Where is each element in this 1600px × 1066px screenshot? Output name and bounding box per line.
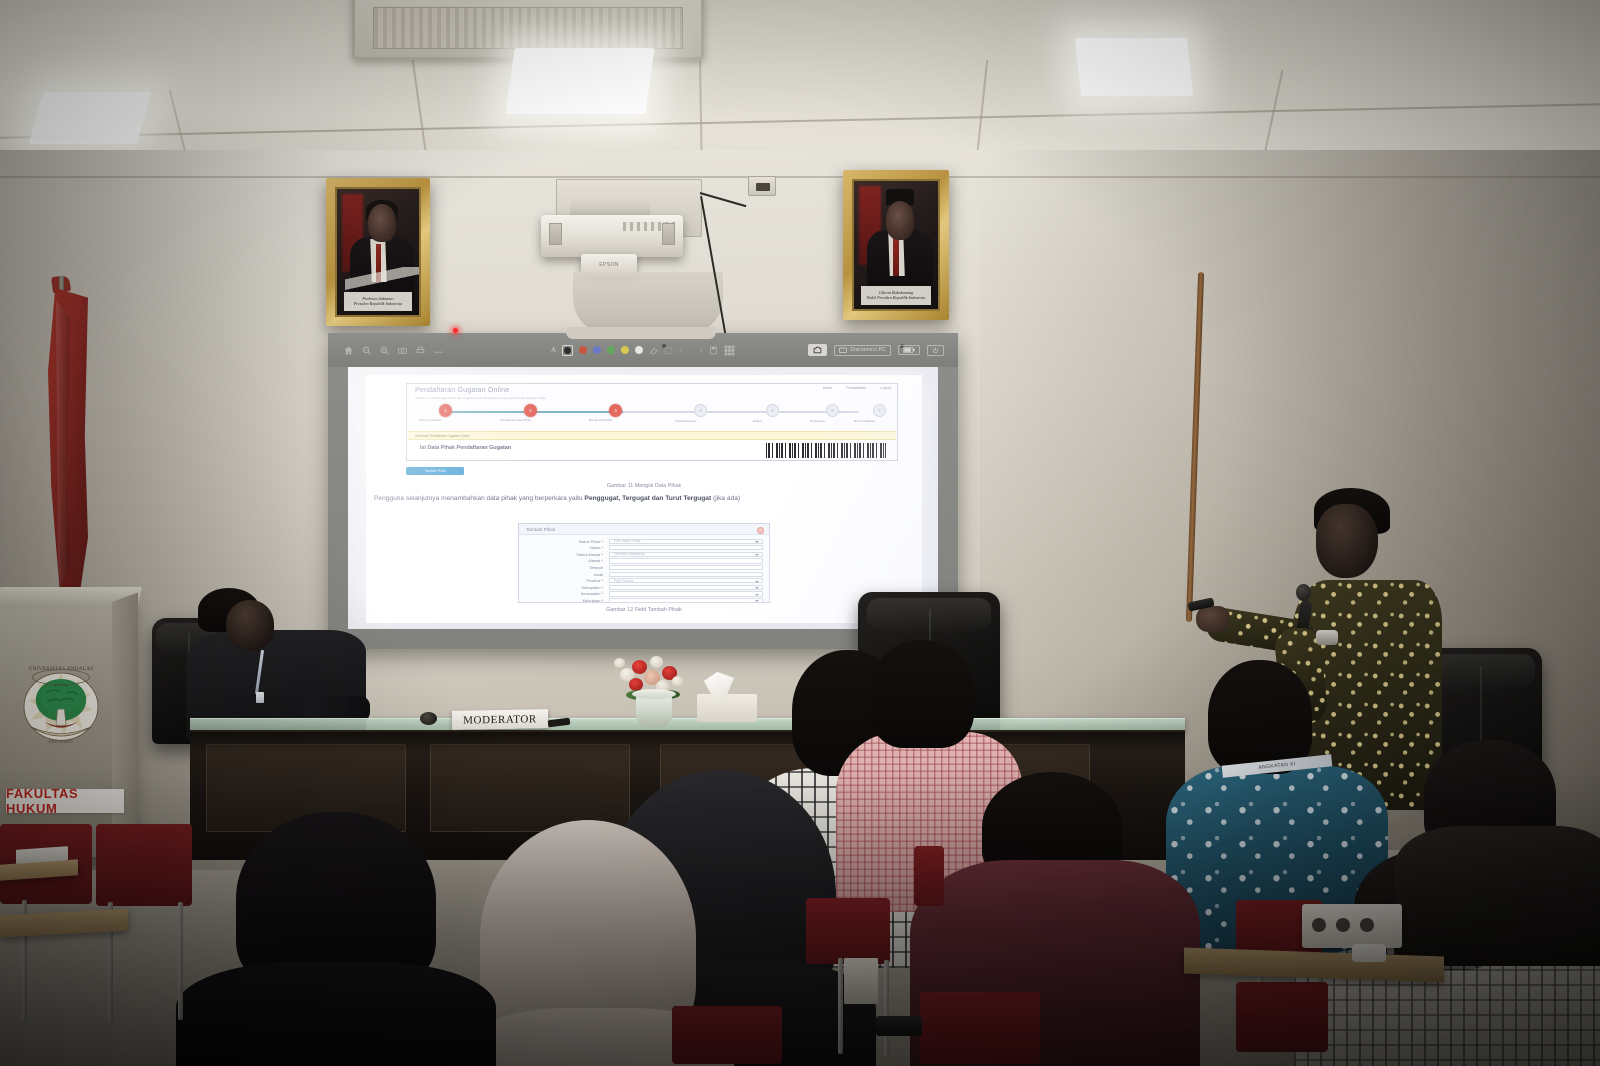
paragraph-suffix: (jika ada) [711, 495, 740, 502]
step-4[interactable]: 4 Upload Dokumen [694, 404, 707, 417]
vice-president-portrait: Gibran Rakabuming Wakil Presiden Republi… [843, 170, 949, 320]
step-4-number: 4 [699, 408, 701, 413]
web-app-title: Pendaftaran Gugatan Online [415, 387, 509, 394]
redo-icon[interactable] [694, 346, 703, 355]
label-telepon: Telepon [525, 565, 609, 570]
input-email[interactable] [609, 572, 763, 577]
web-app-screenshot: Pendaftaran Gugatan Online Silahkan isi … [406, 383, 898, 461]
presenter-head [1316, 504, 1378, 578]
microphone-head [1296, 584, 1311, 601]
step-1[interactable]: 1 Biaya Pendaftaran [439, 404, 452, 417]
audience-member-far-left [176, 812, 496, 1066]
ceiling-light-panel [1075, 38, 1193, 96]
nav-logout[interactable]: Logout [880, 386, 891, 390]
step-7[interactable]: 7 Bukti Pendaftaran [873, 404, 886, 417]
step-7-label: Bukti Pendaftaran [829, 420, 901, 423]
label-kabupaten: Kabupaten * [525, 585, 609, 590]
ac-remote-panel[interactable] [1302, 904, 1402, 948]
desk-microphone-base [420, 712, 437, 725]
label-nama: Nama * [525, 545, 609, 550]
presenter-hand [1196, 606, 1230, 632]
faculty-name-plate: FAKULTAS HUKUM [6, 789, 124, 813]
zoom-in-icon[interactable] [380, 346, 389, 355]
input-telepon[interactable] [609, 565, 763, 570]
president-portrait: Prabowo Subianto Presiden Republik Indon… [326, 178, 430, 326]
form-row-status-alamat: Status Alamat * Diketahui Alamatnya [525, 551, 763, 557]
swatch-blue[interactable] [593, 346, 601, 354]
projected-screen-area: Pendaftaran Gugatan Online Silahkan isi … [348, 367, 938, 629]
step-1-label: Biaya Pendaftaran [395, 419, 467, 422]
projector-bracket [573, 272, 723, 334]
audience-chair[interactable] [806, 898, 890, 964]
form-row-kecamatan: Kecamatan * [525, 591, 763, 597]
input-kecamatan[interactable] [609, 591, 763, 596]
device-label: Disconnect PC [850, 347, 886, 353]
input-kelurahan[interactable] [609, 598, 763, 603]
swatch-green[interactable] [607, 346, 615, 354]
form-row-alamat: Alamat * [525, 558, 763, 564]
card-heading: Isi Data Pihak Pendaftaran Gugatan [420, 445, 511, 451]
step-2-number: 2 [529, 408, 531, 413]
step-5[interactable]: 5 E-Skum [766, 404, 779, 417]
moderator-nameplate: MODERATOR [452, 709, 548, 730]
laser-pointer-dot [453, 328, 458, 333]
paragraph-bold: Penggugat, Tergugat dan Turut Tergugat [584, 495, 711, 502]
label-kelurahan: Kelurahan * [525, 598, 609, 603]
projector-brand-label: EPSON [599, 262, 619, 268]
moderator-id-badge [256, 692, 264, 703]
figure-caption-11: Gambar 11 Mengisi Data Pihak [366, 483, 922, 489]
form-row-nama: Nama * [525, 545, 763, 551]
close-icon[interactable] [757, 527, 764, 534]
display-device-chip[interactable]: Disconnect PC [834, 345, 891, 356]
cup-on-table [1352, 944, 1386, 962]
step-4-label: Upload Dokumen [650, 420, 722, 423]
nameplate-text: MODERATOR [463, 713, 537, 726]
label-status-alamat: Status Alamat * [525, 552, 609, 557]
label-provinsi: Provinsi * [525, 578, 609, 583]
seated-moderator [186, 588, 366, 738]
save-icon[interactable] [709, 346, 718, 355]
grid-icon[interactable] [724, 345, 735, 356]
universitas-andalas-logo: UNIVERSITAS ANDALAS KEJUJURAN [18, 663, 104, 747]
swatch-white[interactable] [635, 346, 643, 354]
step-5-number: 5 [771, 408, 773, 413]
notebook [844, 958, 878, 1004]
power-icon[interactable] [927, 345, 944, 356]
swatch-yellow[interactable] [621, 346, 629, 354]
more-icon[interactable] [434, 346, 443, 355]
label-kecamatan: Kecamatan * [525, 591, 609, 596]
audience-hair [870, 640, 974, 748]
input-status-alamat[interactable]: Diketahui Alamatnya [609, 552, 763, 557]
registration-stepper: 1 Biaya Pendaftaran 2 Pendaftaran Kuasa … [421, 404, 883, 426]
input-alamat[interactable] [609, 558, 763, 563]
select-icon[interactable] [664, 346, 673, 355]
president-title: Presiden Republik Indonesia [354, 302, 402, 306]
zoom-out-icon[interactable] [362, 346, 371, 355]
undo-icon[interactable] [679, 346, 688, 355]
audience-chair[interactable] [96, 824, 192, 906]
step-1-number: 1 [444, 408, 446, 413]
paragraph-prefix: Pengguna selanjutnya menambahkan data pi… [374, 495, 584, 502]
slide-paragraph: Pengguna selanjutnya menambahkan data pi… [374, 493, 914, 505]
step-2-label: Pendaftaran Kuasa Pihak [480, 419, 552, 422]
web-app-card-body: Isi Data Pihak Pendaftaran Gugatan [408, 440, 896, 459]
web-app-subtitle: Silahkan isi data dengan benar dan lengk… [415, 396, 745, 400]
form-row-provinsi: Provinsi * Pilih Provinsi [525, 578, 763, 584]
lanyard-text: ANGKATAN XI [1258, 761, 1296, 771]
label-status-pihak: Status Pihak * [525, 539, 609, 544]
whiteboard-ink-toolbar[interactable]: A [328, 333, 958, 367]
label-email: email [525, 572, 609, 577]
vice-president-title: Wakil Presiden Republik Indonesia [867, 296, 926, 300]
audience-chair[interactable] [920, 992, 1040, 1064]
label-alamat: Alamat * [525, 558, 609, 563]
input-provinsi[interactable]: Pilih Provinsi [609, 578, 763, 583]
tambah-pihak-form[interactable]: Tambah Pihak Status Pihak * Pilih Status… [518, 523, 770, 603]
phone-on-table [876, 1016, 922, 1036]
form-row-status-pihak: Status Pihak * Pilih Status Pihak [525, 538, 763, 544]
form-row-kelurahan: Kelurahan * [525, 597, 763, 603]
wall-power-socket[interactable] [748, 176, 776, 196]
figure-caption-12: Gambar 12 Field Tambah Pihak [366, 607, 922, 613]
eraser-icon[interactable] [649, 346, 658, 355]
president-portrait-caption: Prabowo Subianto Presiden Republik Indon… [344, 292, 413, 311]
step-7-number: 7 [878, 408, 880, 413]
screenshot-icon[interactable] [808, 344, 827, 356]
input-status-pihak[interactable]: Pilih Status Pihak [609, 539, 763, 544]
form-header: Tambah Pihak [519, 524, 769, 535]
print-icon[interactable] [416, 346, 425, 355]
seminar-room-photo: Prabowo Subianto Presiden Republik Indon… [0, 0, 1600, 1066]
step-3[interactable]: 3 Mengisi Data Pihak [609, 404, 622, 417]
input-nama[interactable] [609, 545, 763, 550]
audience-chair[interactable] [1236, 982, 1328, 1052]
alert-text: Informasi Pendaftaran Gugatan Online [415, 434, 470, 438]
nav-pendaftaran[interactable]: Pendaftaran [846, 386, 866, 390]
step-6-number: 6 [831, 408, 833, 413]
barcode-image [766, 443, 886, 458]
nav-home[interactable]: Home [823, 386, 833, 390]
audience-member-right-mid [1394, 740, 1600, 960]
university-name-ribbon: UNIVERSITAS ANDALAS [29, 667, 94, 672]
lectern-podium: UNIVERSITAS ANDALAS KEJUJURAN FAKULTAS H… [0, 597, 130, 857]
swatch-red[interactable] [579, 346, 587, 354]
projector-body [541, 215, 683, 257]
faculty-label: FAKULTAS HUKUM [6, 786, 124, 816]
camera-icon[interactable] [398, 346, 407, 355]
web-app-nav[interactable]: Home Pendaftaran Logout [823, 386, 891, 390]
tambah-pihak-button[interactable]: Tambah Pihak [406, 467, 464, 475]
step-6[interactable]: 6 Pembayaran [826, 404, 839, 417]
pen-icon[interactable] [562, 345, 573, 356]
battery-icon [898, 345, 920, 355]
audience-torso [1394, 826, 1600, 966]
flower-vase [636, 693, 672, 727]
university-motto: KEJUJURAN [49, 740, 73, 744]
info-alert-bar: Informasi Pendaftaran Gugatan Online [408, 431, 896, 440]
ceiling-light-panel [505, 48, 654, 114]
whiteboard-bezel: A [328, 333, 958, 367]
audience-chair[interactable] [914, 846, 944, 906]
moderator-head [226, 600, 274, 650]
font-size-icon[interactable]: A [551, 346, 556, 354]
presentation-slide: Pendaftaran Gugatan Online Silahkan isi … [366, 375, 922, 623]
home-icon[interactable] [344, 346, 353, 355]
ac-grille [373, 7, 683, 49]
ceiling-light-panel [29, 92, 152, 144]
step-3-label: Mengisi Data Pihak [565, 419, 637, 422]
vice-president-portrait-caption: Gibran Rakabuming Wakil Presiden Republi… [861, 286, 932, 305]
form-row-telepon: Telepon [525, 564, 763, 570]
audience-chair[interactable] [672, 1006, 782, 1064]
step-2[interactable]: 2 Pendaftaran Kuasa Pihak [524, 404, 537, 417]
form-row-kabupaten: Kabupaten * [525, 584, 763, 590]
input-kabupaten[interactable] [609, 585, 763, 590]
form-row-email: email [525, 571, 763, 577]
tambah-pihak-label: Tambah Pihak [424, 469, 446, 473]
form-title: Tambah Pihak [526, 527, 555, 532]
audience-torso [176, 962, 496, 1066]
step-3-number: 3 [614, 408, 616, 413]
presenter-wristwatch [1316, 630, 1338, 645]
